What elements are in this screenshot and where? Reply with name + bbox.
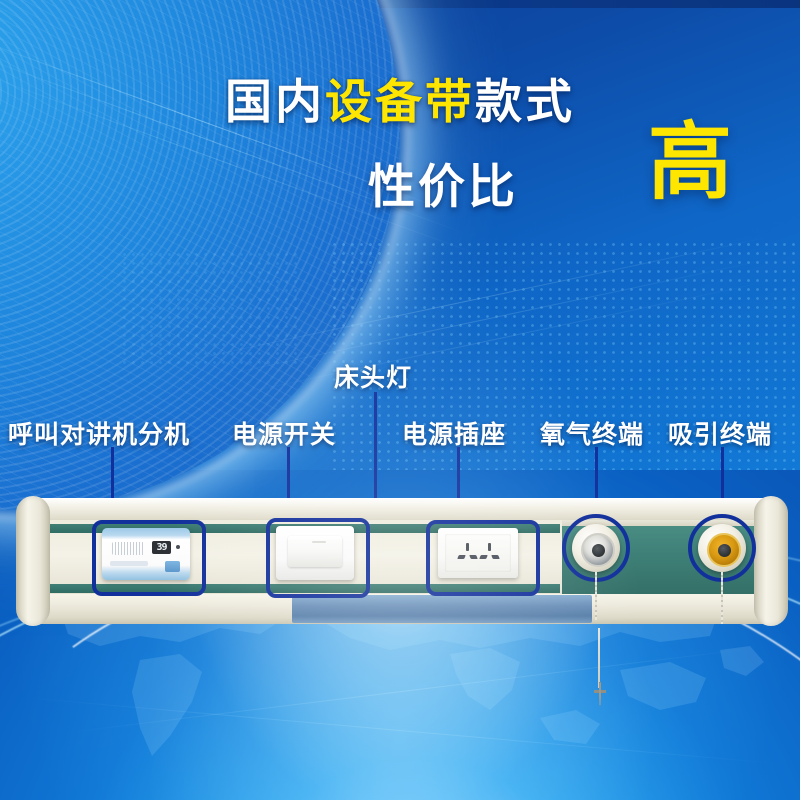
callout-intercom: 呼叫对讲机分机: [8, 415, 190, 451]
panel-end-cap-left: [16, 496, 50, 626]
suction-terminal-cord: [721, 572, 723, 624]
halftone-dots-lower-left: [120, 250, 300, 370]
highlight-box-intercom: [92, 520, 206, 596]
highlight-box-power-socket: [426, 520, 540, 596]
callout-oxygen-terminal: 氧气终端: [540, 415, 644, 451]
panel-end-cap-right: [754, 496, 788, 626]
highlight-box-power-switch: [266, 518, 370, 598]
callout-suction-terminal: 吸引终端: [668, 415, 772, 451]
panel-bottom-rail-blue-segment: [292, 595, 592, 623]
oxygen-terminal-cord: [595, 572, 597, 620]
callout-power-switch: 电源开关: [232, 415, 336, 451]
hanging-hook-icon: [592, 682, 608, 708]
medical-equipment-panel: 39: [22, 498, 782, 630]
hanging-cord: [598, 628, 600, 688]
callout-bed-lamp: 床头灯: [334, 358, 412, 394]
promo-image-canvas: 国内设备带款式 性价比 高 呼叫对讲机分机 电源开关 床头灯 电源插座 氧气终端…: [0, 0, 800, 800]
callout-power-socket: 电源插座: [402, 415, 506, 451]
